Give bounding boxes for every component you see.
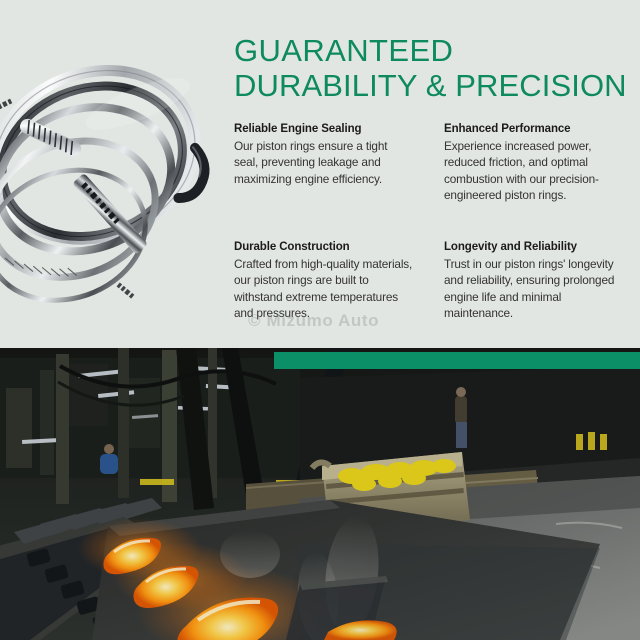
feature-item-durable-construction: Durable Construction Crafted from high-q… [234,239,414,321]
feature-body: Trust in our piston rings' longevity and… [444,256,624,321]
factory-foundry-photo [0,348,640,640]
feature-title: Enhanced Performance [444,121,624,137]
feature-title: Reliable Engine Sealing [234,121,414,137]
headline-line-2: DURABILITY & PRECISION [234,68,630,103]
feature-body: Experience increased power, reduced fric… [444,138,624,203]
feature-body: Our piston rings ensure a tight seal, pr… [234,138,414,187]
top-content-panel: GUARANTEED DURABILITY & PRECISION Reliab… [0,0,640,348]
feature-body: Crafted from high-quality materials, our… [234,256,414,321]
feature-grid: Reliable Engine Sealing Our piston rings… [234,121,630,321]
feature-item-longevity-and-reliability: Longevity and Reliability Trust in our p… [444,239,624,321]
feature-title: Durable Construction [234,239,414,255]
feature-item-enhanced-performance: Enhanced Performance Experience increase… [444,121,624,203]
feature-item-reliable-engine-sealing: Reliable Engine Sealing Our piston rings… [234,121,414,203]
feature-title: Longevity and Reliability [444,239,624,255]
product-image-piston-rings [0,8,228,338]
green-accent-bar [274,352,640,369]
page-title: GUARANTEED DURABILITY & PRECISION [234,33,630,103]
headline-line-1: GUARANTEED [234,33,630,68]
